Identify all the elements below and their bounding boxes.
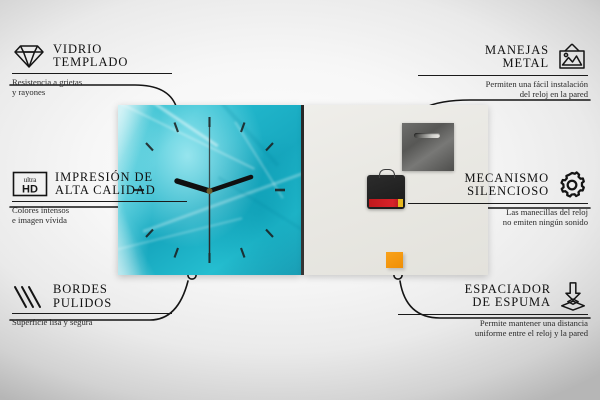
feature-description: Colores intensos e imagen vívida — [12, 205, 187, 226]
ultra-hd-icon: ultra HD — [12, 170, 48, 198]
feature-manejas-metal: MANEJAS METAL Permiten una fácil instala… — [418, 42, 588, 100]
mechanism-chip — [398, 199, 403, 207]
feature-rule — [12, 313, 172, 314]
feature-rule — [12, 201, 187, 202]
feature-description: Permiten una fácil instalación del reloj… — [418, 79, 588, 100]
feature-bordes-pulidos: BORDES PULIDOS Superficie lisa y segura — [12, 283, 172, 327]
feature-title-line1: MECANISMO — [465, 172, 550, 186]
foam-spacer — [386, 252, 403, 268]
feature-description-line1: Resistencia a grietas — [12, 77, 172, 88]
feature-title-line1: BORDES — [53, 283, 108, 297]
metal-hanger-plate — [402, 123, 454, 171]
feature-description-line2: y rayones — [12, 87, 172, 98]
clock-mechanism — [367, 175, 405, 209]
feature-description: Permite mantener una distancia uniforme … — [398, 318, 588, 339]
feature-description-line2: uniforme entre el reloj y la pared — [398, 328, 588, 339]
feature-title-line2: DE ESPUMA — [472, 296, 551, 310]
feature-description-line2: no emiten ningún sonido — [408, 217, 588, 228]
feature-title-line2: TEMPLADO — [53, 56, 128, 70]
mechanism-hanging-loop — [379, 169, 395, 178]
feature-description: Superficie lisa y segura — [12, 317, 172, 328]
feature-description-line2: del reloj en la pared — [418, 89, 588, 100]
diamond-icon — [12, 42, 46, 70]
feature-description-line2: e imagen vívida — [12, 215, 187, 226]
feature-vidrio-templado: VIDRIO TEMPLADO Resistencia a grietas y … — [12, 42, 172, 98]
feature-title-line2: METAL — [502, 57, 549, 71]
hanger-slot — [414, 133, 440, 138]
foam-spacer-icon — [558, 281, 588, 311]
feature-description: Resistencia a grietas y rayones — [12, 77, 172, 98]
feature-title-line2: ALTA CALIDAD — [55, 184, 156, 198]
feature-rule — [398, 314, 588, 315]
feature-description-line1: Permiten una fácil instalación — [418, 79, 588, 90]
feature-title-line2: SILENCIOSO — [467, 185, 549, 199]
feature-title-line1: ESPACIADOR — [465, 283, 551, 297]
feature-title-line1: MANEJAS — [485, 44, 549, 58]
feature-title-line1: VIDRIO — [53, 43, 102, 57]
infographic-canvas: VIDRIO TEMPLADO Resistencia a grietas y … — [0, 0, 600, 400]
feature-description-line1: Permite mantener una distancia — [398, 318, 588, 329]
minute-hand — [210, 177, 252, 191]
feature-rule — [418, 75, 588, 76]
feature-description-line1: Colores intensos — [12, 205, 187, 216]
ultra-hd-icon-bottom: HD — [22, 184, 38, 196]
feature-impresion-alta-calidad: ultra HD IMPRESIÓN DE ALTA CALIDAD Color… — [12, 170, 187, 226]
feature-rule — [12, 73, 172, 74]
feature-title-line1: IMPRESIÓN DE — [55, 171, 153, 185]
feature-espaciador-espuma: ESPACIADOR DE ESPUMA Permite mantener un… — [398, 281, 588, 339]
polished-edges-icon — [12, 284, 46, 310]
feature-rule — [408, 203, 588, 204]
wall-frame-icon — [556, 42, 588, 72]
gear-icon — [556, 170, 588, 200]
feature-description: Las manecillas del reloj no emiten ningú… — [408, 207, 588, 228]
feature-mecanismo-silencioso: MECANISMO SILENCIOSO Las manecillas del … — [408, 170, 588, 228]
feature-description-line1: Superficie lisa y segura — [12, 317, 172, 328]
feature-title-line2: PULIDOS — [53, 297, 112, 311]
feature-description-line1: Las manecillas del reloj — [408, 207, 588, 218]
